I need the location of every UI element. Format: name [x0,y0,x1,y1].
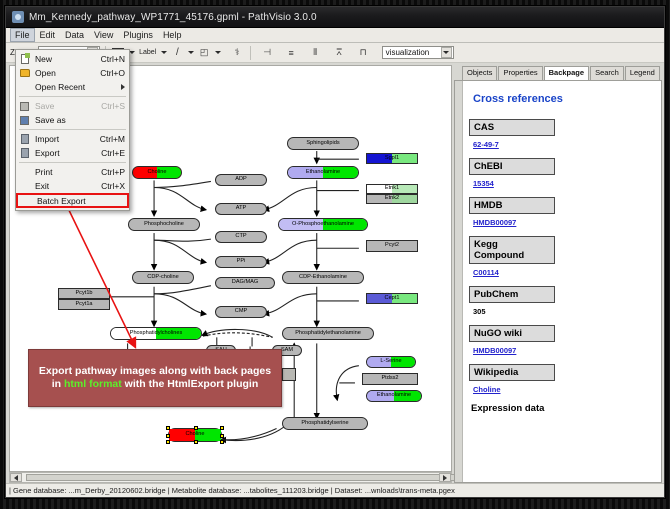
menu-item-batch-export[interactable]: Batch Export [16,193,129,208]
xref-link[interactable]: HMDB00097 [473,218,516,227]
menu-item-shortcut: Ctrl+X [95,181,125,191]
menu-item-label: Import [31,134,94,144]
save-as-icon [18,114,31,126]
xref-value[interactable]: HMDB00097 [473,346,653,355]
node-label: Choline [148,170,167,176]
cross-reference-list: CAS62-49-7ChEBI15354HMDBHMDB00097Kegg Co… [469,119,653,394]
node-label: Phosphatidylethanolamine [295,331,361,337]
menu-item-label: Exit [31,181,95,191]
side-panel-tab-strip: Objects Properties Backpage Search Legen… [454,65,662,80]
menu-item-label: Open [31,68,94,78]
menu-item-save: SaveCtrl+S [16,99,129,113]
scroll-left-icon[interactable] [10,473,22,482]
xref-block: CAS62-49-7 [469,119,653,149]
side-panel: Objects Properties Backpage Search Legen… [453,63,664,483]
backpage-content: Cross references CAS62-49-7ChEBI15354HMD… [463,81,661,482]
pathway-node-choline-selected[interactable]: Choline [168,428,222,442]
node-label: PPi [237,259,246,265]
save-icon [18,100,31,112]
menu-file[interactable]: File [10,28,35,42]
xref-link[interactable]: HMDB00097 [473,346,516,355]
pathway-node-cmp[interactable]: CMP [215,306,267,318]
menu-item-label: Print [31,167,95,177]
node-label: L-Serine [380,359,401,365]
xref-value[interactable]: 15354 [473,179,653,188]
callout-connector-stub [282,368,296,381]
menu-item-label: Save [31,101,95,111]
menu-item-new[interactable]: NewCtrl+N [16,52,129,66]
file-menu-dropdown[interactable]: NewCtrl+NOpenCtrl+OOpen RecentSaveCtrl+S… [15,49,130,211]
pathway-node-etnk1[interactable]: Etnk1 [366,184,418,194]
distribute-icon: ⫴ [313,47,317,58]
callout-annotation: Export pathway images along with back pa… [28,349,282,407]
menu-edit[interactable]: Edit [35,28,61,42]
menu-item-label: New [31,54,95,64]
pathway-node-o-phosphoethanolamine[interactable]: O-Phosphoethanolamine [278,218,368,231]
node-label: Sphingolipids [306,141,339,147]
xref-block: NuGO wikiHMDB00097 [469,325,653,355]
node-label: Phosphatidylserine [301,421,348,427]
import-icon [18,133,31,145]
group-button[interactable]: ⩞ [332,45,347,60]
pathway-node-phosphatidylethanolamine[interactable]: Phosphatidylethanolamine [282,327,374,340]
xref-block: PubChem305 [469,286,653,316]
xref-database-name: NuGO wiki [469,325,555,342]
xref-value[interactable]: C00114 [473,268,653,277]
node-label: Pcyt2 [385,243,399,249]
selection-handle[interactable] [166,434,170,438]
scroll-right-icon[interactable] [439,473,451,482]
node-label: CDP-choline [147,275,178,281]
window-title: Mm_Kennedy_pathway_WP1771_45176.gpml - P… [29,12,317,23]
tab-backpage[interactable]: Backpage [544,66,589,81]
xref-value[interactable]: HMDB00097 [473,218,653,227]
node-label: Etnk2 [385,196,399,202]
xref-block: WikipediaCholine [469,364,653,394]
tab-objects[interactable]: Objects [462,66,497,80]
pathway-node-ethanolamine-top[interactable]: Ethanolamine [287,166,359,179]
tab-legend[interactable]: Legend [625,66,660,80]
node-label: Pcyt1b [75,291,92,297]
xref-database-name: Wikipedia [469,364,555,381]
selection-handle[interactable] [220,434,224,438]
shape-dropdown-icon[interactable] [215,51,221,54]
xref-value[interactable]: Choline [473,385,653,394]
no-icon [18,166,31,178]
menu-separator [19,162,126,163]
cross-references-title: Cross references [473,93,653,105]
node-label: Phosphatidylcholines [130,331,183,337]
pathway-node-choline-top[interactable]: Choline [132,166,182,179]
anchor-icon: ⚕ [235,47,240,58]
align-stack-button[interactable]: ≡ [284,45,299,60]
menu-item-label: Save as [31,115,119,125]
line-icon: \ [176,47,179,58]
menu-item-shortcut: Ctrl+O [94,68,125,78]
align-left-icon: ⊣ [263,47,271,58]
pathway-node-pcyt1a[interactable]: Pcyt1a [58,299,110,310]
pathway-node-ethanolamine-bottom[interactable]: Ethanolamine [366,390,422,402]
selection-handle[interactable] [194,426,198,430]
menu-separator [19,96,126,97]
menu-item-label: Batch Export [33,196,117,206]
selection-handle[interactable] [220,426,224,430]
xref-link[interactable]: C00114 [473,268,499,277]
pathway-node-etnk2[interactable]: Etnk2 [366,194,418,204]
node-label: Choline [186,432,205,438]
align-stack-icon: ≡ [289,48,294,58]
pathway-node-pcyt1b[interactable]: Pcyt1b [58,288,110,299]
menu-item-export[interactable]: ExportCtrl+E [16,146,129,160]
group-icon: ⩞ [336,47,341,58]
node-label: Phosphocholine [144,222,184,228]
menu-item-shortcut: Ctrl+P [95,167,125,177]
xref-link[interactable]: Choline [473,385,501,394]
scrollbar-thumb[interactable] [26,474,496,481]
application-icon [12,11,24,23]
expression-data-title: Expression data [471,403,653,414]
menu-bar: File Edit Data View Plugins Help [6,28,664,43]
open-folder-icon [18,67,31,79]
xref-link[interactable]: 62-49-7 [473,140,499,149]
label-tool-button[interactable]: Label [138,45,158,60]
menu-view[interactable]: View [89,28,118,42]
shape-icon: ◰ [200,47,209,58]
anchor-tool-button[interactable]: ⚕ [230,45,245,60]
xref-block: Kegg CompoundC00114 [469,236,653,277]
menu-item-shortcut: Ctrl+E [95,148,125,158]
pathway-node-dag-mag[interactable]: DAG/MAG [215,277,275,289]
xref-block: HMDBHMDB00097 [469,197,653,227]
pathway-node-ctp[interactable]: CTP [215,231,267,243]
backpage-panel: Cross references CAS62-49-7ChEBI15354HMD… [454,80,662,483]
menu-plugins[interactable]: Plugins [118,28,158,42]
label-dropdown-icon[interactable] [161,51,167,54]
pathway-node-phosphocholine[interactable]: Phosphocholine [128,218,200,231]
align-left-button[interactable]: ⊣ [260,45,275,60]
label-icon: Label [139,49,156,56]
node-label: Sgpl1 [385,156,399,162]
selection-handle[interactable] [166,426,170,430]
menu-item-import[interactable]: ImportCtrl+M [16,132,129,146]
pathway-node-sphingolipids[interactable]: Sphingolipids [287,137,359,150]
selection-handle[interactable] [220,440,224,444]
pathvisio-application-window: Mm_Kennedy_pathway_WP1771_45176.gpml - P… [5,6,665,498]
callout-text-after: with the HtmlExport plugin [122,378,259,390]
pathway-node-phosphatidylcholines[interactable]: Phosphatidylcholines [110,327,202,340]
node-label: CMP [235,309,247,315]
pathway-node-cdp-ethanolamine[interactable]: CDP-Ethanolamine [282,271,364,284]
status-bar: | Gene database: ...m_Derby_20120602.bri… [6,483,664,497]
node-label: Etnk1 [385,186,399,192]
pathway-node-cdp-choline[interactable]: CDP-choline [132,271,194,284]
selection-handle[interactable] [194,440,198,444]
desktop-background: Mm_Kennedy_pathway_WP1771_45176.gpml - P… [0,0,670,509]
tab-properties[interactable]: Properties [498,66,542,80]
pathway-node-cept1[interactable]: Cept1 [366,293,418,304]
menu-help[interactable]: Help [158,28,187,42]
line-tool-button[interactable]: \ [170,45,185,60]
node-label: ATP [236,206,246,212]
export-icon [18,147,31,159]
order-icon: ⊓ [360,47,367,58]
shape-tool-button[interactable]: ◰ [197,45,212,60]
order-button[interactable]: ⊓ [356,45,371,60]
visualization-value: visualization [386,48,430,57]
canvas-horizontal-scrollbar[interactable] [9,472,452,483]
menu-item-open[interactable]: OpenCtrl+O [16,66,129,80]
no-icon [18,180,31,192]
xref-value[interactable]: 62-49-7 [473,140,653,149]
pathway-node-ppi[interactable]: PPi [215,256,267,268]
pathway-node-ptdss2[interactable]: Ptdss2 [362,373,418,385]
no-icon [18,81,31,93]
node-label: Pcyt1a [75,302,92,308]
title-bar: Mm_Kennedy_pathway_WP1771_45176.gpml - P… [6,7,664,28]
visualization-combobox[interactable]: visualization [382,46,454,59]
tab-search[interactable]: Search [590,66,624,80]
xref-database-name: CAS [469,119,555,136]
xref-database-name: ChEBI [469,158,555,175]
node-label: ADP [235,177,247,183]
pathway-node-atp[interactable]: ATP [215,203,267,215]
menu-item-label: Open Recent [31,82,121,92]
callout-text-highlight: html format [64,378,122,390]
menu-item-shortcut: Ctrl+N [95,54,125,64]
xref-block: ChEBI15354 [469,158,653,188]
node-label: O-Phosphoethanolamine [292,222,354,228]
toolbar-separator-2 [250,46,251,60]
pathway-node-phosphatidylserine[interactable]: Phosphatidylserine [282,417,368,430]
node-label: CTP [235,234,246,240]
xref-database-name: PubChem [469,286,555,303]
xref-value: 305 [473,307,653,316]
pathway-node-pcyt2[interactable]: Pcyt2 [366,240,418,252]
menu-item-exit[interactable]: ExitCtrl+X [16,179,129,193]
xref-link[interactable]: 15354 [473,179,494,188]
menu-item-print[interactable]: PrintCtrl+P [16,165,129,179]
pathway-node-sgpl1[interactable]: Sgpl1 [366,153,418,164]
node-label: Cept1 [385,296,400,302]
node-label: Ptdss2 [381,376,398,382]
xref-database-name: Kegg Compound [469,236,555,264]
distribute-button[interactable]: ⫴ [308,45,323,60]
xref-database-name: HMDB [469,197,555,214]
panel-gutter [455,81,463,482]
menu-data[interactable]: Data [60,28,89,42]
status-bar-text: | Gene database: ...m_Derby_20120602.bri… [9,486,455,495]
pathway-node-l-serine[interactable]: L-Serine [366,356,416,368]
node-label: Ethanolamine [377,393,411,399]
menu-item-save-as[interactable]: Save as [16,113,129,127]
node-label: CDP-Ethanolamine [299,275,347,281]
node-label: SAM [281,348,293,354]
menu-item-label: Export [31,148,95,158]
menu-item-open-recent[interactable]: Open Recent [16,80,129,94]
menu-item-shortcut: Ctrl+S [95,101,125,111]
menu-separator [19,129,126,130]
line-dropdown-icon[interactable] [188,51,194,54]
chevron-down-icon-visualization[interactable] [441,47,452,58]
no-icon [20,195,33,207]
submenu-arrow-icon [121,84,125,90]
pathway-node-adp[interactable]: ADP [215,174,267,186]
selection-handle[interactable] [166,440,170,444]
new-document-icon [18,53,31,65]
node-label: DAG/MAG [232,280,258,286]
menu-item-shortcut: Ctrl+M [94,134,125,144]
node-label: Ethanolamine [306,170,340,176]
